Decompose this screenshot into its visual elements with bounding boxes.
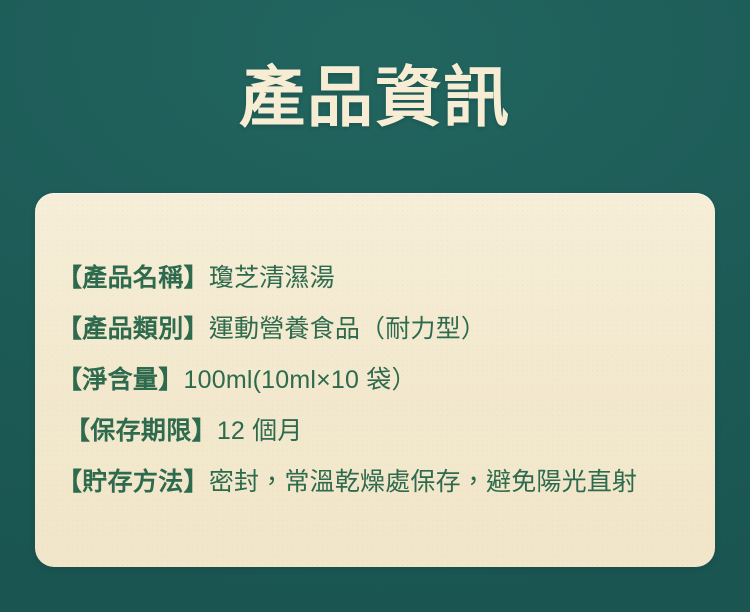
page-title: 產品資訊: [239, 64, 511, 130]
title-area: 產品資訊: [0, 0, 750, 193]
spec-value: 運動營養食品（耐力型）: [209, 315, 486, 343]
spec-label: 【產品名稱】: [57, 264, 209, 292]
product-spec-card: 【產品名稱】瓊芝清濕湯【產品類別】運動營養食品（耐力型）【淨含量】100ml(1…: [35, 193, 715, 567]
spec-value: 瓊芝清濕湯: [209, 264, 335, 292]
spec-row: 【保存期限】12 個月: [57, 406, 693, 457]
spec-value: 密封，常溫乾燥處保存，避免陽光直射: [209, 468, 637, 496]
spec-label: 【產品類別】: [57, 315, 209, 343]
spec-row: 【產品類別】運動營養食品（耐力型）: [57, 304, 693, 355]
spec-value: 100ml(10ml×10 袋）: [184, 366, 417, 394]
spec-label: 【貯存方法】: [57, 468, 209, 496]
spec-row: 【產品名稱】瓊芝清濕湯: [57, 253, 693, 304]
spec-value: 12 個月: [217, 417, 303, 445]
product-info-page: 產品資訊 【產品名稱】瓊芝清濕湯【產品類別】運動營養食品（耐力型）【淨含量】10…: [0, 0, 750, 612]
spec-list: 【產品名稱】瓊芝清濕湯【產品類別】運動營養食品（耐力型）【淨含量】100ml(1…: [57, 253, 693, 508]
spec-row: 【淨含量】100ml(10ml×10 袋）: [57, 355, 693, 406]
spec-row: 【貯存方法】密封，常溫乾燥處保存，避免陽光直射: [57, 457, 693, 508]
spec-label: 【保存期限】: [65, 417, 217, 445]
spec-label: 【淨含量】: [57, 366, 184, 394]
